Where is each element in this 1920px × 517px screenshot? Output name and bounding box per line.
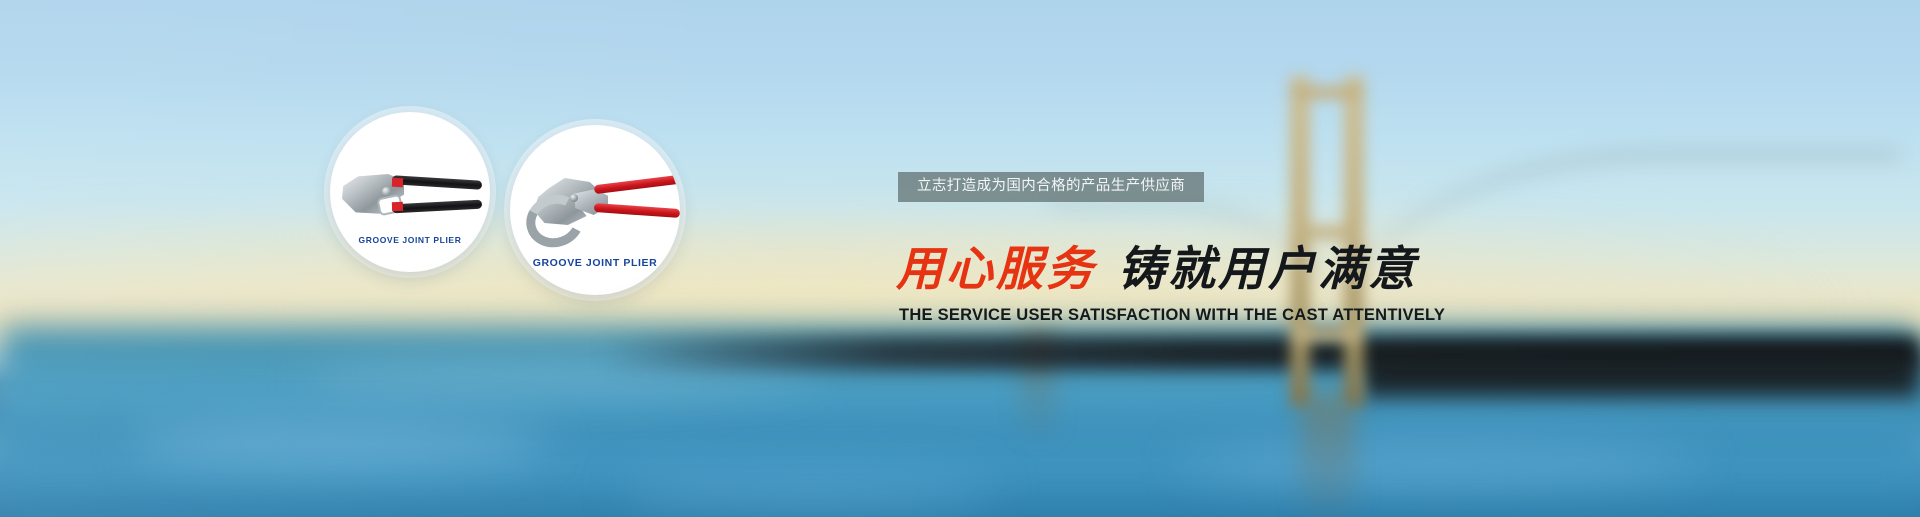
bridge-deck-far [1360,352,1920,398]
headline: 用心服务铸就用户满意 [896,246,1418,293]
water-streak [620,470,1000,510]
headline-subtitle: THE SERVICE USER SATISFACTION WITH THE C… [899,306,1445,325]
headline-red: 用心服务 [896,242,1096,297]
product-caption: GROOVE JOINT PLIER [510,257,680,269]
product-caption: GROOVE JOINT PLIER [330,235,490,245]
water-streak [130,420,550,466]
bridge-pier-main [1300,392,1356,517]
bridge-tower-icon [1286,76,1372,406]
groove-joint-plier-icon [340,172,488,220]
tagline-bar: 立志打造成为国内合格的产品生产供应商 [898,172,1204,202]
groove-joint-plier-icon [526,173,676,235]
water-streak [1180,440,1700,488]
headline-dark: 铸就用户满意 [1118,242,1418,297]
hero-banner: GROOVE JOINT PLIER GROOVE JOINT PLIER 立志… [0,0,1920,517]
product-circle-1[interactable]: GROOVE JOINT PLIER [330,112,490,272]
product-circle-2[interactable]: GROOVE JOINT PLIER [510,125,680,295]
